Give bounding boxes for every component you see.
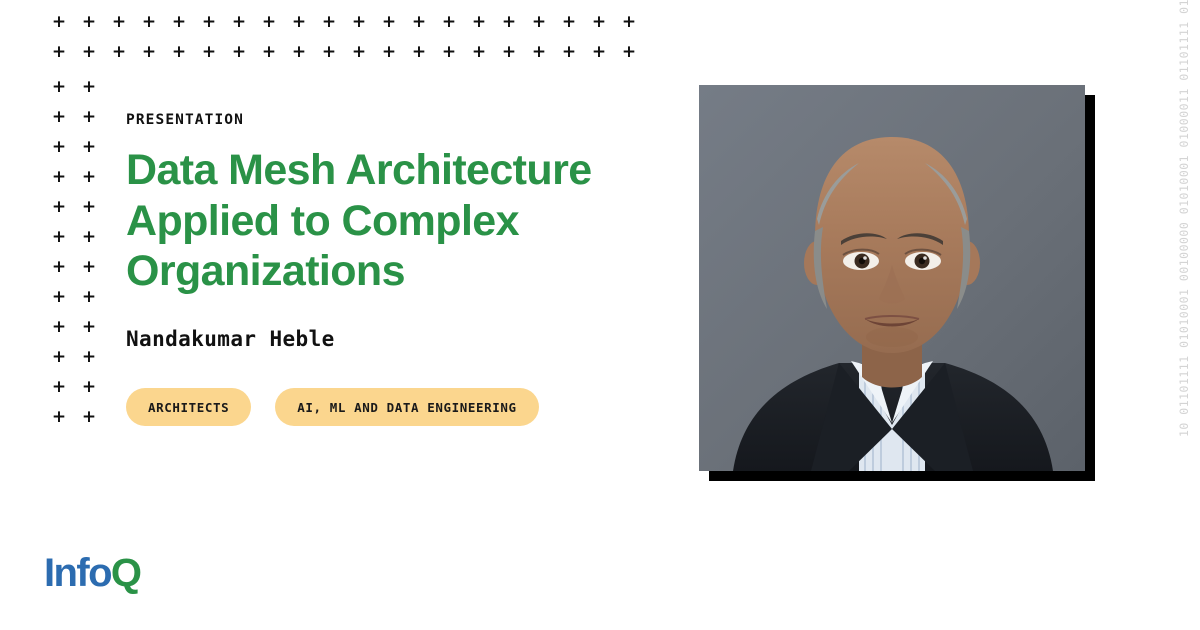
logo-text-q: Q [111, 551, 141, 595]
plus-glyph: + [464, 14, 494, 31]
plus-glyph: + [74, 229, 104, 246]
plus-glyph: + [524, 14, 554, 31]
plus-pair: ++ [44, 402, 104, 432]
plus-glyph: + [584, 44, 614, 61]
plus-glyph: + [524, 44, 554, 61]
plus-glyph: + [614, 44, 644, 61]
plus-pair: ++ [44, 102, 104, 132]
plus-glyph: + [464, 44, 494, 61]
plus-glyph: + [224, 14, 254, 31]
plus-glyph: + [74, 109, 104, 126]
plus-glyph: + [134, 14, 164, 31]
plus-glyph: + [44, 289, 74, 306]
plus-glyph: + [44, 349, 74, 366]
plus-glyph: + [44, 199, 74, 216]
tag-architects[interactable]: ARCHITECTS [126, 388, 251, 426]
speaker-photo-container [699, 85, 1085, 471]
plus-glyph: + [194, 44, 224, 61]
speaker-headshot [699, 85, 1085, 471]
plus-pair: ++ [44, 282, 104, 312]
plus-glyph: + [344, 14, 374, 31]
plus-glyph: + [44, 139, 74, 156]
plus-glyph: + [404, 44, 434, 61]
plus-glyph: + [44, 14, 74, 31]
plus-glyph: + [44, 109, 74, 126]
plus-glyph: + [44, 259, 74, 276]
plus-glyph: + [434, 14, 464, 31]
plus-pair: ++ [44, 222, 104, 252]
plus-glyph: + [554, 14, 584, 31]
plus-glyph: + [314, 14, 344, 31]
plus-pair: ++ [44, 372, 104, 402]
plus-glyph: + [434, 44, 464, 61]
plus-glyph: + [44, 79, 74, 96]
plus-glyph: + [104, 44, 134, 61]
plus-glyph: + [224, 44, 254, 61]
plus-glyph: + [74, 44, 104, 61]
content-block: PRESENTATION Data Mesh Architecture Appl… [126, 112, 666, 426]
plus-glyph: + [74, 199, 104, 216]
plus-glyph: + [284, 14, 314, 31]
presentation-card: ++++++++++++++++++++ +++++++++++++++++++… [0, 0, 1200, 630]
infoq-logo[interactable]: InfoQ [44, 553, 140, 593]
plus-glyph: + [374, 14, 404, 31]
plus-glyph: + [314, 44, 344, 61]
plus-glyph: + [584, 14, 614, 31]
plus-pair: ++ [44, 72, 104, 102]
plus-glyph: + [74, 139, 104, 156]
content-type-label: PRESENTATION [126, 112, 666, 128]
binary-strip-text: 10 01101111 01010001 00100000 01010001 0… [1177, 7, 1191, 437]
plus-row-top-1: ++++++++++++++++++++ [44, 14, 644, 31]
tag-ai-ml-data-engineering[interactable]: AI, ML AND DATA ENGINEERING [275, 388, 538, 426]
plus-glyph: + [554, 44, 584, 61]
plus-glyph: + [44, 229, 74, 246]
plus-glyph: + [44, 44, 74, 61]
binary-strip-decoration: 10 01101111 01010001 00100000 01010001 0… [1169, 0, 1199, 630]
plus-glyph: + [74, 349, 104, 366]
plus-glyph: + [44, 319, 74, 336]
plus-glyph: + [614, 14, 644, 31]
plus-pair: ++ [44, 162, 104, 192]
plus-glyph: + [374, 44, 404, 61]
plus-glyph: + [134, 44, 164, 61]
plus-glyph: + [44, 169, 74, 186]
plus-glyph: + [344, 44, 374, 61]
plus-glyph: + [494, 44, 524, 61]
plus-glyph: + [404, 14, 434, 31]
plus-glyph: + [284, 44, 314, 61]
plus-glyph: + [44, 409, 74, 426]
logo-text-info: Info [44, 551, 111, 595]
plus-glyph: + [74, 14, 104, 31]
plus-glyph: + [254, 14, 284, 31]
plus-glyph: + [194, 14, 224, 31]
plus-pair: ++ [44, 252, 104, 282]
plus-pair: ++ [44, 132, 104, 162]
plus-glyph: + [254, 44, 284, 61]
plus-glyph: + [164, 44, 194, 61]
page-title: Data Mesh Architecture Applied to Comple… [126, 145, 636, 297]
plus-pair: ++ [44, 192, 104, 222]
plus-glyph: + [74, 319, 104, 336]
plus-pair: ++ [44, 312, 104, 342]
plus-glyph: + [44, 379, 74, 396]
speaker-name: Nandakumar Heble [126, 327, 666, 351]
plus-column-group: ++++++++++++++++++++++++ [44, 72, 104, 432]
plus-glyph: + [104, 14, 134, 31]
plus-glyph: + [74, 259, 104, 276]
plus-pair: ++ [44, 342, 104, 372]
tag-list: ARCHITECTS AI, ML AND DATA ENGINEERING [126, 388, 666, 426]
plus-glyph: + [494, 14, 524, 31]
plus-glyph: + [74, 409, 104, 426]
plus-glyph: + [74, 79, 104, 96]
plus-glyph: + [74, 379, 104, 396]
plus-glyph: + [74, 289, 104, 306]
plus-row-top-2: ++++++++++++++++++++ [44, 44, 644, 61]
plus-glyph: + [74, 169, 104, 186]
plus-glyph: + [164, 14, 194, 31]
